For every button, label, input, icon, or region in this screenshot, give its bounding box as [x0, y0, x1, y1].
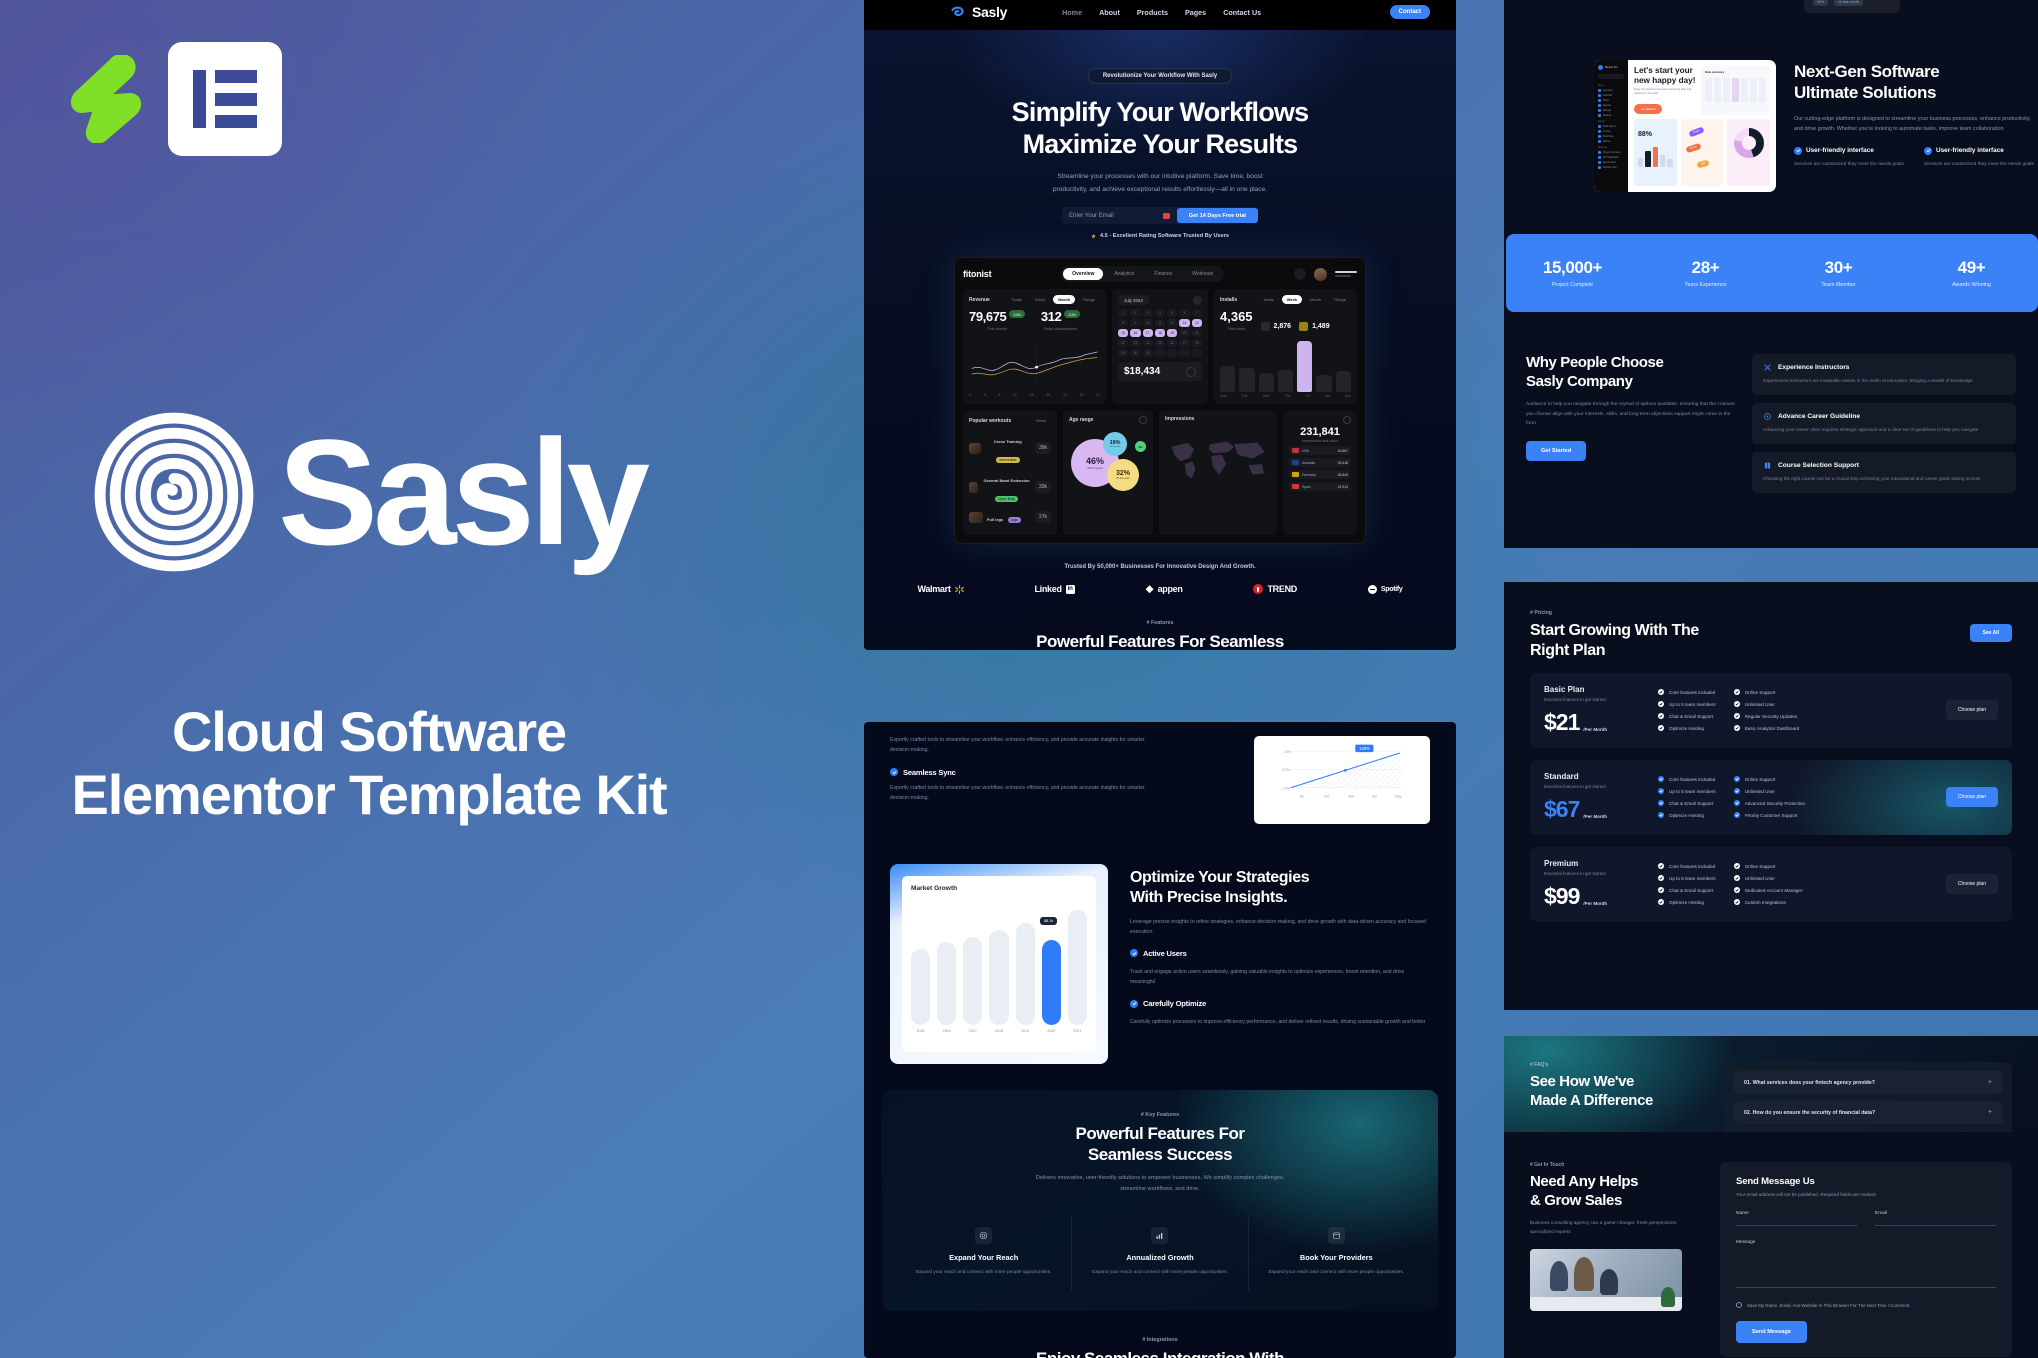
dashboard-mockup: fitonist Overview Analytics Finance Work… [954, 257, 1366, 544]
workout-name: General Band Extension [983, 478, 1029, 483]
check-icon [1658, 863, 1664, 869]
market-growth-title: Market Growth [911, 885, 1087, 892]
check-circle-icon [1924, 147, 1932, 155]
day-cell[interactable]: 11 [1155, 319, 1165, 327]
why-choose-section: Why People Choose Sasly Company Auidance… [1504, 354, 2038, 493]
next-gen-feature: User-friendly interface Services are cus… [1924, 147, 2038, 169]
why-card[interactable]: Advance Career Guideline Advancing your … [1752, 403, 2016, 444]
plus-icon[interactable]: + [1988, 1079, 1992, 1086]
revenue-kpi1-value: 79,675 [969, 309, 1006, 324]
linkedin-in-icon: in [1066, 585, 1075, 594]
faq-item[interactable]: 02. How do you ensure the security of fi… [1733, 1101, 2003, 1124]
bar [937, 942, 956, 1025]
tick: 31 [1096, 393, 1100, 397]
day-cell[interactable]: 29 [1118, 349, 1128, 357]
day-cell[interactable]: 9 [1130, 319, 1140, 327]
plan-features-left: Core features included Up to 5 team memb… [1658, 863, 1716, 905]
tick: 2021 [1068, 1029, 1087, 1033]
apple-icon [1261, 322, 1270, 331]
plan-features-left: Core features included Up to 5 team memb… [1658, 776, 1716, 818]
workout-row: General Band Extension Upper Body 33k [969, 469, 1051, 505]
age-bubble-19: 19% 40+ years [1103, 432, 1127, 456]
day-cell[interactable]: 26 [1167, 339, 1177, 347]
bar [1259, 373, 1274, 392]
next-gen-body: Our cutting-edge platform is designed to… [1794, 114, 2038, 135]
about-page-screenshot: See All Transactions 54% vs last month B… [1504, 0, 2038, 548]
range-range[interactable]: Range [1329, 295, 1351, 304]
check-icon [1734, 887, 1740, 893]
envelope-icon [1163, 213, 1170, 219]
day-cell[interactable]: 4 [1155, 309, 1165, 317]
flag-icon [1292, 460, 1299, 465]
elementor-logo-icon [168, 42, 282, 156]
age-range-title: Age range [1069, 417, 1093, 423]
mock-body: Enjoy the playlist as we keep monitoring… [1634, 88, 1696, 97]
bar-chart-growth-icon [1151, 1227, 1168, 1244]
day-cell[interactable]: 28 [1192, 339, 1202, 347]
hero-email-form[interactable]: Enter Your Email Get 14 Days Free trial [1062, 207, 1258, 224]
email-field[interactable]: Email [1875, 1211, 1996, 1226]
svg-text:5.0%: 5.0% [1282, 768, 1290, 772]
day-cell [1155, 349, 1165, 357]
brand-name: Sasly [278, 431, 645, 554]
mock-stat-card: 88% [1634, 119, 1677, 186]
pricing-title: Start Growing With The Right Plan [1530, 621, 1699, 661]
day-cell[interactable]: 8 [1118, 319, 1128, 327]
why-get-started-button[interactable]: Get Started [1526, 441, 1586, 461]
country-row: Australia 33,418 [1289, 458, 1351, 467]
range-week[interactable]: Week [1282, 295, 1302, 304]
tick: Wed [1263, 394, 1270, 398]
partner-logo-linkedin: Linked in [1034, 584, 1074, 594]
range-month[interactable]: Month [1305, 295, 1326, 304]
nav-link-about[interactable]: About [1099, 8, 1120, 17]
check-icon [1658, 899, 1664, 905]
check-circle-icon [1130, 1000, 1138, 1008]
stat-item: 15,000+Project Complete [1506, 258, 1639, 288]
tagline: Cloud Software Elementor Template Kit [0, 700, 738, 827]
nav-link-pages[interactable]: Pages [1185, 8, 1206, 17]
day-cell[interactable]: 16 [1130, 329, 1140, 337]
day-cell[interactable]: 3 [1143, 309, 1153, 317]
flag-icon [1292, 448, 1299, 453]
check-circle-icon [1130, 949, 1138, 957]
navbar-contact-button[interactable]: Contact [1390, 5, 1430, 19]
optimize-body: Leverage precise insights to refine stra… [1130, 917, 1430, 937]
check-icon [1734, 863, 1740, 869]
spotify-icon [1368, 585, 1377, 594]
day-cell[interactable]: 5 [1167, 309, 1177, 317]
stats-band: 15,000+Project Complete 28+Years Experie… [1506, 234, 2038, 312]
faq-item[interactable]: 01. What services does your fintech agen… [1733, 1071, 2003, 1094]
installs-android: 1,489 [1299, 322, 1330, 331]
partner-logo-appen: appen [1146, 584, 1183, 594]
plan-features-left: Core features included Up to 5 team memb… [1658, 689, 1716, 731]
check-icon [1734, 788, 1740, 794]
flag-icon [1292, 484, 1299, 489]
workout-value: 33k [1035, 481, 1051, 493]
bar [911, 949, 930, 1025]
elementor-line [215, 93, 257, 106]
check-icon [1658, 776, 1664, 782]
dashboard-topbar: fitonist Overview Analytics Finance Work… [963, 266, 1357, 282]
installs-label: This week [1220, 326, 1253, 331]
choose-plan-button[interactable]: Choose plan [1946, 787, 1998, 807]
next-gen-section: Bonnie Pro Menu OverviewCalendar TasksRe… [1504, 0, 2038, 192]
tagline-line-2: Elementor Template Kit [0, 763, 738, 826]
bar-active [1042, 940, 1061, 1025]
day-cell[interactable]: 21 [1192, 329, 1202, 337]
name-field[interactable]: Name [1736, 1211, 1857, 1226]
calendar-total-value: $18,434 [1124, 366, 1160, 377]
why-title: Why People Choose Sasly Company [1526, 354, 1738, 391]
tick: 2 [969, 393, 971, 397]
pricing-see-all-button[interactable]: See All [1970, 624, 2013, 642]
svg-text:Apr: Apr [1372, 795, 1378, 799]
navbar-brand[interactable]: Sasly [950, 4, 1007, 20]
workout-thumb [969, 482, 978, 493]
nav-link-products[interactable]: Products [1137, 8, 1168, 17]
svg-text:128%: 128% [1359, 746, 1370, 751]
message-field[interactable]: Message [1736, 1240, 1996, 1288]
partner-logo-spotify: Spotify [1368, 585, 1403, 594]
left-branding-panel: Sasly Cloud Software Elementor Template … [0, 0, 860, 1358]
bar-peak [1297, 341, 1312, 393]
bar [989, 930, 1008, 1025]
tick: 24 [1063, 393, 1067, 397]
tick: Sun [1345, 394, 1351, 398]
key-features-band: # Key Features Powerful Features For Sea… [882, 1090, 1438, 1311]
day-cell[interactable]: 18 [1155, 329, 1165, 337]
check-icon [1734, 689, 1740, 695]
impressions-value: 231,841 [1289, 426, 1351, 438]
play-store-icon [1299, 322, 1308, 331]
hero-headline-line-2: Maximize Your Results [1023, 129, 1298, 159]
sasly-swirl-icon [950, 5, 965, 20]
tick: Tue [1242, 394, 1248, 398]
book-icon [1763, 461, 1772, 470]
check-icon [1658, 701, 1664, 707]
walmart-spark-icon [955, 585, 964, 594]
day-cell[interactable]: 7 [1192, 309, 1202, 317]
features-title: Powerful Features For Seamless Success R… [864, 632, 1456, 650]
revenue-x-axis: 2 4 8 12 16 20 24 28 31 [969, 393, 1100, 397]
tick: 28 [1080, 393, 1084, 397]
range-today[interactable]: Today [1258, 295, 1279, 304]
hero-headline: Simplify Your Workflows Maximize Your Re… [864, 97, 1456, 160]
market-growth-tooltip: $8.1k [1040, 917, 1057, 925]
why-card[interactable]: Experience Instructors Experienced instr… [1752, 354, 2016, 395]
check-icon [1658, 812, 1664, 818]
plan-features-right: Online Support Unlimited User Regular Se… [1734, 689, 1799, 731]
installs-range-tabs: Today Week Month Range [1258, 295, 1351, 304]
elementor-line [215, 70, 257, 83]
features-page-screenshot: Expertly crafted tools to streamline you… [864, 722, 1456, 1358]
tick: 16 [1030, 393, 1034, 397]
tick: 12 [1013, 393, 1017, 397]
info-icon[interactable] [1139, 416, 1147, 424]
day-cell[interactable]: 22 [1118, 339, 1128, 347]
key-features-body: Delivers innovative, user-friendly solut… [1030, 1173, 1290, 1195]
day-cell[interactable]: 30 [1130, 349, 1140, 357]
revenue-kpi-2: 3124.1% Daily subscriptions [1041, 309, 1080, 331]
tick: 2018 [989, 1029, 1008, 1033]
features-section-head: # Features Powerful Features For Seamles… [864, 594, 1456, 650]
target-icon [975, 1227, 992, 1244]
key-feature-card: Book Your Providers Expand your reach an… [1249, 1215, 1424, 1291]
compass-icon [1763, 412, 1772, 421]
hero-email-input[interactable]: Enter Your Email [1069, 213, 1163, 219]
elementor-bar [193, 70, 206, 128]
tab-finance[interactable]: Finance [1145, 268, 1181, 280]
popular-workouts-card: Popular workouts Week Cross Training Int… [963, 410, 1057, 535]
user-email [1335, 275, 1351, 277]
revenue-kpi2-value: 312 [1041, 309, 1062, 324]
check-icon [1658, 713, 1664, 719]
tick: 2016 [937, 1029, 956, 1033]
mock-stat-value: 88% [1638, 131, 1652, 138]
avatar[interactable] [1314, 268, 1327, 281]
star-icon [1091, 234, 1096, 239]
bar [1016, 923, 1035, 1025]
world-map [1165, 427, 1271, 489]
app-logo-icon [1598, 65, 1603, 70]
svg-text:1.0%: 1.0% [1282, 786, 1290, 790]
day-cell[interactable]: 17 [1143, 329, 1153, 337]
revenue-kpi2-badge: 4.1% [1064, 310, 1080, 318]
day-cell[interactable]: 10 [1143, 319, 1153, 327]
tick: Sat [1325, 394, 1330, 398]
nav-link-contact-us[interactable]: Contact Us [1223, 8, 1261, 17]
calendar-grid: 1234567 891011121314 15161718192021 2223… [1118, 309, 1202, 357]
day-cell[interactable]: 24 [1143, 339, 1153, 347]
bar [1239, 368, 1254, 393]
mock-main: Let's start your new happy day! Enjoy th… [1628, 60, 1776, 192]
key-features-title: Powerful Features For Seamless Success [882, 1124, 1438, 1165]
market-growth-card: Market Growth $8.1k 2015 [890, 864, 1108, 1064]
age-bubble-4: 4% [1135, 441, 1146, 452]
why-body: Auidance to help you navigate through th… [1526, 400, 1738, 429]
bar [1278, 370, 1293, 392]
mock-card-title: Data summary [1705, 70, 1766, 74]
workout-thumb [969, 512, 983, 523]
check-icon [1658, 875, 1664, 881]
mock-headline: Let's start your new happy day! [1634, 66, 1696, 85]
day-cell[interactable]: 20 [1179, 329, 1189, 337]
installs-ios: 2,876 [1261, 322, 1292, 331]
day-cell[interactable]: 25 [1155, 339, 1165, 347]
integrations-section: # Integrations Enjoy Seamless Integratio… [864, 1311, 1456, 1358]
tick: 2015 [911, 1029, 930, 1033]
day-cell [1179, 349, 1189, 357]
range-range[interactable]: Range [1078, 295, 1100, 304]
contact-page-screenshot: # Get In Touch Need Any Helps & Grow Sal… [1504, 1132, 2038, 1358]
form-note: Your email address will not be published… [1736, 1192, 1996, 1197]
navbar-brand-label: Sasly [972, 4, 1007, 20]
next-gen-feature: User-friendly interface Services are cus… [1794, 147, 1908, 169]
why-card[interactable]: Course Selection Support Choosing the ri… [1752, 452, 2016, 493]
transactions-badge: vs last month [1834, 0, 1863, 6]
seamless-feature-head: Seamless Sync [890, 768, 1148, 777]
range-week[interactable]: Week [1030, 295, 1050, 304]
optimize-feature-body: Carefully optimize processes to improve … [1130, 1017, 1430, 1027]
seamless-sync-section: Expertly crafted tools to streamline you… [864, 722, 1456, 824]
range-today[interactable]: Today [1006, 295, 1027, 304]
revenue-range-tabs: Today Week Month Range [1006, 295, 1100, 304]
save-info-checkbox[interactable]: Save My Name, Email, And Website In This… [1736, 1302, 1996, 1308]
calendar-total: $18,434 [1118, 362, 1202, 381]
choose-plan-button[interactable]: Choose plan [1946, 700, 1998, 720]
day-cell[interactable]: 1 [1118, 309, 1128, 317]
pricing-plan-basic: Basic Plan Essential features to get sta… [1530, 673, 2012, 748]
revenue-kpi1-badge: 2.4% [1009, 310, 1025, 318]
calendar-total-badge [1186, 367, 1196, 377]
pricing-page-screenshot: # Pricing Start Growing With The Right P… [1504, 582, 2038, 1010]
workout-name: Full legs [987, 517, 1003, 522]
contact-tag: # Get In Touch [1530, 1162, 1700, 1168]
market-growth-bars: $8.1k [911, 903, 1087, 1025]
navbar-links: Home About Products Pages Contact Us [1062, 8, 1261, 17]
day-cell[interactable]: 14 [1192, 319, 1202, 327]
workout-value: 39k [1035, 442, 1051, 454]
day-cell[interactable]: 23 [1130, 339, 1140, 347]
stat-item: 49+Awards Winning [1905, 258, 2038, 288]
nav-link-home[interactable]: Home [1062, 8, 1082, 17]
day-cell[interactable]: 6 [1179, 309, 1189, 317]
brand-lockup: Sasly [88, 408, 645, 576]
tick: 2020 [1042, 1029, 1061, 1033]
partners-section: Trusted By 50,000+ Businesses For Innova… [864, 544, 1456, 594]
calendar-month-select[interactable]: July 2024 [1118, 295, 1149, 305]
optimize-title: Optimize Your Strategies With Precise In… [1130, 868, 1430, 908]
tick: Mon [1220, 394, 1227, 398]
check-icon [1658, 788, 1664, 794]
range-month[interactable]: Month [1053, 295, 1075, 304]
key-feature-card: Expand Your Reach Expand your reach and … [896, 1215, 1072, 1291]
site-navbar: Sasly Home About Products Pages Contact … [864, 0, 1456, 30]
mock-cta-button[interactable]: Get Started [1634, 104, 1662, 114]
day-cell[interactable]: 15 [1118, 329, 1128, 337]
expand-icon[interactable] [1193, 296, 1202, 305]
installs-android-value: 1,489 [1312, 323, 1330, 330]
tick: 4 [984, 393, 986, 397]
age-bubble-32: 32% 25-40 years [1107, 459, 1139, 491]
key-feature-card: Annualized Growth Expand your reach and … [1072, 1215, 1248, 1291]
tick: Thu [1285, 394, 1291, 398]
donut-chart [1734, 128, 1764, 158]
impressions-map-card: Impressions [1159, 410, 1277, 535]
check-icon [1734, 800, 1740, 806]
optimize-section: Market Growth $8.1k 2015 [864, 824, 1456, 1064]
contact-form: Send Message Us Your email address will … [1720, 1162, 2012, 1357]
hero-eyebrow-badge: Revolutionize Your Workflow With Sasly [1088, 68, 1232, 84]
hero-trial-button[interactable]: Get 14 Days Free trial [1177, 208, 1258, 223]
dashboard-user-info [1335, 271, 1357, 277]
check-icon [1734, 812, 1740, 818]
calendar-book-icon [1328, 1227, 1345, 1244]
check-icon [1658, 887, 1664, 893]
installs-x-axis: Mon Tue Wed Thu Fri Sat Sun [1220, 394, 1351, 398]
day-cell[interactable]: 31 [1143, 349, 1153, 357]
elementor-line [215, 115, 257, 128]
check-icon [1734, 701, 1740, 707]
tab-analytics[interactable]: Analytics [1105, 268, 1143, 280]
features-tag: # Features [864, 620, 1456, 626]
faq-title: See How We've Made A Difference [1530, 1073, 1706, 1111]
next-gen-title: Next-Gen Software Ultimate Solutions [1794, 62, 2038, 104]
day-cell[interactable]: 2 [1130, 309, 1140, 317]
right-screenshot-column: See All Transactions 54% vs last month B… [1504, 0, 2038, 1358]
day-cell[interactable]: 12 [1167, 319, 1177, 327]
tab-workouts[interactable]: Workouts [1183, 268, 1222, 280]
hero-headline-line-1: Simplify Your Workflows [1012, 97, 1309, 127]
send-message-button[interactable]: Send Message [1736, 1321, 1807, 1343]
check-icon [1734, 713, 1740, 719]
workout-value: 27k [1035, 511, 1051, 523]
day-cell[interactable]: 19 [1167, 329, 1177, 337]
radio-icon[interactable] [1736, 1302, 1742, 1308]
workout-name: Cross Training [994, 439, 1022, 444]
key-features-tag: # Key Features [882, 1112, 1438, 1118]
pricing-plan-standard: Standard Essential features to get start… [1530, 760, 2012, 835]
integrations-title: Enjoy Seamless Integration With 100+ Pla… [864, 1349, 1456, 1358]
stat-item: 30+Team Member [1772, 258, 1905, 288]
hero-rating-text: 4.5 - Excellent Rating Software Trusted … [1100, 233, 1229, 239]
expand-icon[interactable] [1343, 416, 1351, 424]
optimize-feature-head: Carefully Optimize [1130, 999, 1430, 1008]
workout-tag: Legs [1008, 517, 1021, 523]
workout-row: Full legs Legs 27k [969, 508, 1051, 526]
sidebar-search[interactable] [1598, 74, 1624, 79]
check-icon [1658, 725, 1664, 731]
bar [1068, 910, 1087, 1025]
day-cell[interactable]: 13 [1179, 319, 1189, 327]
country-row: Spain 21,914 [1289, 482, 1351, 491]
bar [1220, 366, 1235, 392]
partners-lead: Trusted By 50,000+ Businesses For Innova… [864, 564, 1456, 570]
plus-icon[interactable]: + [1988, 1109, 1992, 1116]
age-range-card: Age range 46% 18-24 years 32% [1063, 410, 1153, 535]
search-icon[interactable] [1294, 268, 1306, 280]
svg-text:Feb: Feb [1324, 795, 1330, 799]
pricing-plan-premium: Premium Essential features to get starte… [1530, 847, 2012, 922]
check-icon [1658, 800, 1664, 806]
calendar-card: July 2024 1234567 891011121314 151617181… [1112, 289, 1208, 404]
day-cell[interactable]: 27 [1179, 339, 1189, 347]
tab-overview[interactable]: Overview [1063, 268, 1103, 280]
workouts-filter[interactable]: Week [1031, 416, 1051, 425]
seamless-lead: Expertly crafted tools to streamline you… [890, 736, 1148, 756]
mock-flow-card: Design Review Ship [1681, 119, 1724, 186]
optimize-feature-body: Track and engage active users seamlessly… [1130, 967, 1430, 987]
seamless-feature-title: Seamless Sync [903, 768, 956, 777]
workout-tag: Upper Body [995, 496, 1018, 502]
bar [963, 937, 982, 1025]
appen-diamond-icon [1146, 585, 1154, 593]
revenue-kpi2-label: Daily subscriptions [1041, 326, 1080, 331]
partner-logo-walmart: Walmart [917, 584, 963, 594]
impressions-title: Impressions [1165, 416, 1194, 422]
check-circle-icon [1794, 147, 1802, 155]
check-icon [1658, 689, 1664, 695]
integrations-tag: # Integrations [864, 1337, 1456, 1343]
country-row: USA 42,867 [1289, 446, 1351, 455]
stat-item: 28+Years Experience [1639, 258, 1772, 288]
svg-text:Jan: Jan [1299, 795, 1304, 799]
choose-plan-button[interactable]: Choose plan [1946, 874, 1998, 894]
seamless-feature-body: Expertly crafted tools to streamline you… [890, 784, 1148, 804]
revenue-kpi1-label: This month [969, 326, 1025, 331]
